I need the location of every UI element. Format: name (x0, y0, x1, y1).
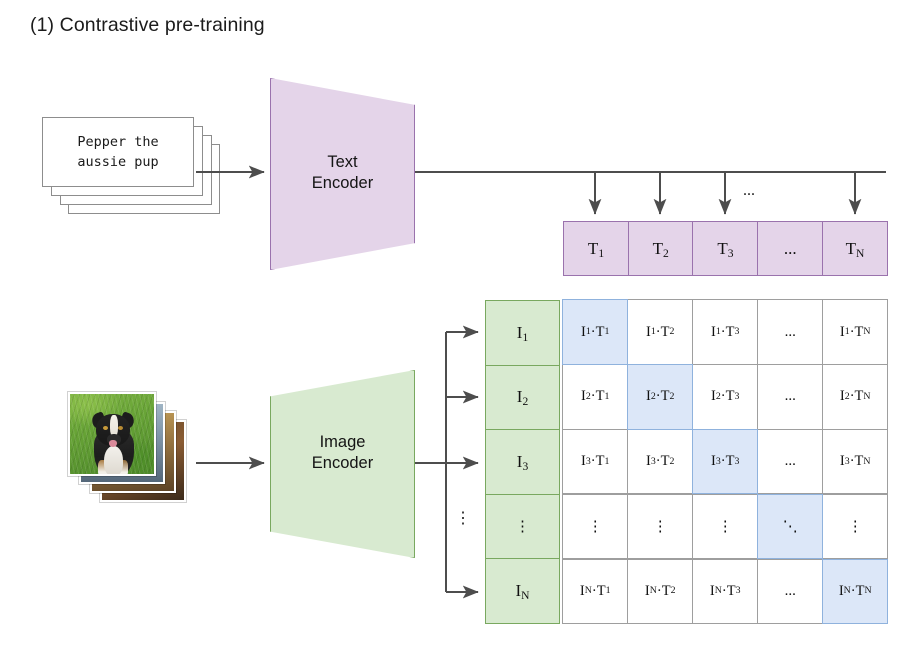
similarity-cell-r4-c3[interactable]: ⋮ (692, 494, 758, 559)
text-embedding-cell-1[interactable]: T1 (563, 221, 629, 276)
t-row-ellipsis-marker: ... (743, 182, 755, 200)
caption-card-stack: Pepper the aussie pup (42, 117, 232, 217)
similarity-matrix: I1·T1I1·T2I1·T3...I1·TNI2·T1I2·T2I2·T3..… (563, 300, 888, 624)
similarity-cell-r5-c4[interactable]: ... (757, 559, 823, 624)
caption-card-front: Pepper the aussie pup (42, 117, 194, 187)
similarity-cell-r1-c3[interactable]: I1·T3 (692, 299, 758, 364)
i-cell-label: ⋮ (515, 517, 530, 536)
similarity-cell-r2-c5[interactable]: I2·TN (822, 364, 888, 429)
similarity-cell-r5-c1[interactable]: IN·T1 (562, 559, 628, 624)
i-cell-label: IN (515, 581, 529, 601)
similarity-cell-r3-c3[interactable]: I3·T3 (692, 429, 758, 494)
clip-contrastive-pretraining-figure: (1) Contrastive pre-training Pepper the … (0, 0, 906, 654)
similarity-cell-r2-c2[interactable]: I2·T2 (627, 364, 693, 429)
similarity-cell-r5-c2[interactable]: IN·T2 (627, 559, 693, 624)
text-embedding-cell-n[interactable]: TN (822, 221, 888, 276)
similarity-cell-r4-c1[interactable]: ⋮ (562, 494, 628, 559)
similarity-cell-r2-c1[interactable]: I2·T1 (562, 364, 628, 429)
caption-text: Pepper the aussie pup (77, 132, 158, 172)
similarity-cell-r3-c4[interactable]: ... (757, 429, 823, 494)
image-embedding-cell-2[interactable]: I2 (485, 365, 560, 431)
similarity-cell-r1-c1[interactable]: I1·T1 (562, 299, 628, 364)
dog-tongue (109, 440, 117, 447)
dog-eye-left (103, 426, 108, 430)
similarity-cell-r1-c5[interactable]: I1·TN (822, 299, 888, 364)
image-embedding-cell-3[interactable]: I3 (485, 429, 560, 495)
similarity-cell-r3-c2[interactable]: I3·T2 (627, 429, 693, 494)
text-encoder-label: Text Encoder (270, 152, 415, 194)
dog-chest (104, 446, 123, 476)
similarity-cell-r5-c5[interactable]: IN·TN (822, 559, 888, 624)
t-cell-label: T2 (653, 239, 669, 259)
image-embedding-cell-1[interactable]: I1 (485, 300, 560, 366)
similarity-cell-r1-c2[interactable]: I1·T2 (627, 299, 693, 364)
similarity-cell-r4-c5[interactable]: ⋮ (822, 494, 888, 559)
similarity-cell-r3-c5[interactable]: I3·TN (822, 429, 888, 494)
t-cell-label: TN (846, 239, 865, 259)
text-embedding-cell-2[interactable]: T2 (628, 221, 694, 276)
photo-front-puppy (68, 392, 156, 476)
photo-stack (68, 392, 193, 504)
i-cell-label: I1 (517, 323, 528, 343)
similarity-cell-r1-c4[interactable]: ... (757, 299, 823, 364)
i-cell-label: I2 (517, 387, 528, 407)
i-column-ellipsis-marker: ⋮ (455, 508, 471, 528)
dog-eye-right (118, 426, 123, 430)
t-cell-label: T1 (588, 239, 604, 259)
figure-title: (1) Contrastive pre-training (30, 14, 265, 37)
similarity-cell-r4-c4[interactable]: ⋱ (757, 494, 823, 559)
text-embedding-row: T1 T2 T3 ... TN (563, 221, 888, 276)
text-embedding-cell-3[interactable]: T3 (692, 221, 758, 276)
similarity-cell-r2-c4[interactable]: ... (757, 364, 823, 429)
image-embedding-cell-ellipsis[interactable]: ⋮ (485, 494, 560, 560)
t-cell-label: T3 (717, 239, 733, 259)
similarity-cell-r2-c3[interactable]: I2·T3 (692, 364, 758, 429)
t-cell-label: ... (784, 239, 797, 259)
image-embedding-cell-n[interactable]: IN (485, 558, 560, 624)
image-encoder-label: Image Encoder (270, 432, 415, 474)
image-embedding-column: I1 I2 I3 ⋮ IN (485, 300, 560, 624)
similarity-cell-r5-c3[interactable]: IN·T3 (692, 559, 758, 624)
similarity-cell-r4-c2[interactable]: ⋮ (627, 494, 693, 559)
text-embedding-cell-ellipsis[interactable]: ... (757, 221, 823, 276)
similarity-cell-r3-c1[interactable]: I3·T1 (562, 429, 628, 494)
i-cell-label: I3 (517, 452, 528, 472)
